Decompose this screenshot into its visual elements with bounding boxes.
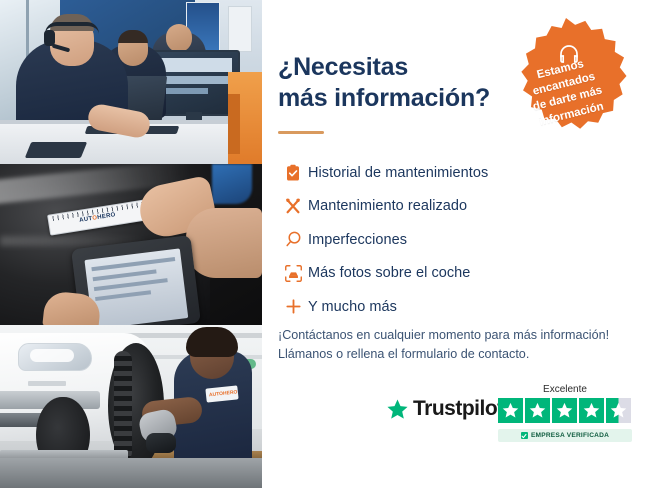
workshop-floor	[0, 458, 262, 488]
inspector-forearm	[186, 208, 262, 278]
star-icon	[386, 398, 409, 421]
trustpilot-wordmark: Trustpilot	[413, 397, 504, 421]
mechanic-wheel-inspection-photo: AUTOHERO	[0, 325, 262, 488]
star-icon	[552, 398, 577, 423]
star-half-icon	[606, 398, 631, 423]
feature-label: Y mucho más	[308, 299, 397, 315]
magnifier-icon	[278, 227, 308, 253]
feature-label: Más fotos sobre el coche	[308, 265, 470, 281]
background-blue-panel	[212, 164, 252, 204]
feature-label: Historial de mantenimientos	[308, 165, 488, 181]
tablet-screen	[84, 248, 188, 325]
star-icon	[525, 398, 550, 423]
trustpilot-rating-label: Excelente	[498, 384, 632, 395]
photo-column: AUTOHERO AUTOHERO	[0, 0, 262, 488]
car-scan-icon	[278, 260, 308, 286]
page-title-line1: ¿Necesitas	[278, 52, 528, 83]
contact-note-line2: Llámanos o rellena el formulario de cont…	[278, 345, 630, 364]
support-badge: Estamos encantados de darte más informac…	[505, 18, 627, 140]
support-badge-text: Estamos encantados de darte más informac…	[499, 48, 632, 136]
call-center-agents-photo	[0, 0, 262, 164]
feature-item-mantenimiento[interactable]: Mantenimiento realizado	[278, 190, 618, 224]
star-icon	[579, 398, 604, 423]
title-divider	[278, 131, 324, 134]
page-title-line2: más información?	[278, 83, 528, 114]
headlight-lens	[30, 349, 74, 362]
star-icon	[498, 398, 523, 423]
check-icon	[521, 432, 528, 439]
background-person-head	[166, 24, 192, 52]
feature-label: Mantenimiento realizado	[308, 198, 467, 214]
content-panel: ¿Necesitas más información? Estamos enca…	[262, 0, 650, 488]
license-plate-area	[28, 381, 66, 386]
verified-label: EMPRESA VERIFICADA	[531, 432, 609, 439]
page-title: ¿Necesitas más información?	[278, 52, 528, 113]
mechanic-glove-dark	[146, 433, 176, 453]
feature-item-imperfecciones[interactable]: Imperfecciones	[278, 223, 618, 257]
car-inspection-ruler-photo: AUTOHERO	[0, 164, 262, 325]
information-promo-card: AUTOHERO AUTOHERO	[0, 0, 650, 488]
plus-icon	[278, 294, 308, 320]
wall-notice	[228, 6, 252, 52]
trustpilot-verified-badge: EMPRESA VERIFICADA	[498, 429, 632, 442]
feature-item-mucho-mas[interactable]: Y mucho más	[278, 290, 618, 324]
desk-tablet	[25, 142, 87, 158]
tire-tread	[114, 351, 132, 461]
contact-note-line1: ¡Contáctanos en cualquier momento para m…	[278, 326, 630, 345]
orange-chair-leg	[228, 94, 240, 154]
trustpilot-stars	[498, 398, 631, 423]
clipboard-check-icon	[278, 160, 308, 186]
feature-list: Historial de mantenimientos Mantenimient…	[278, 156, 618, 324]
trustpilot-widget[interactable]: Trustpilot Excelente	[386, 385, 632, 447]
feature-item-historial[interactable]: Historial de mantenimientos	[278, 156, 618, 190]
feature-item-fotos[interactable]: Más fotos sobre el coche	[278, 257, 618, 291]
mechanic-hair	[186, 327, 238, 357]
contact-note: ¡Contáctanos en cualquier momento para m…	[278, 326, 630, 364]
feature-label: Imperfecciones	[308, 232, 407, 248]
wrench-screwdriver-icon	[278, 193, 308, 219]
trustpilot-logo[interactable]: Trustpilot	[386, 397, 504, 421]
